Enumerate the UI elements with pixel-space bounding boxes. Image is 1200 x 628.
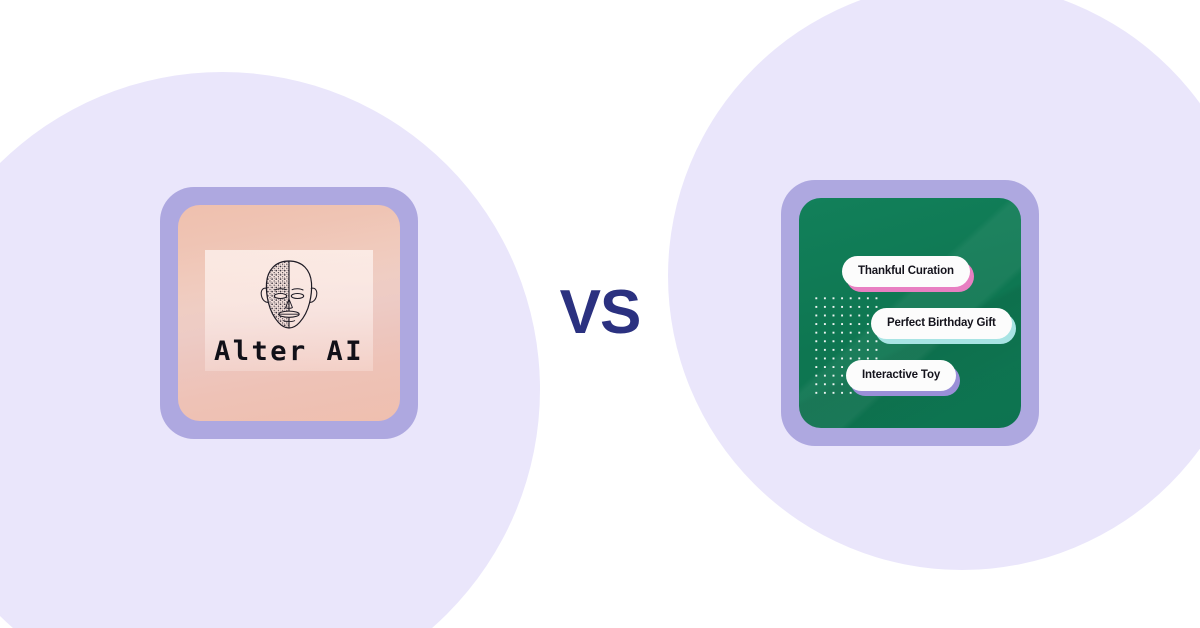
left-app-name: Alter AI bbox=[214, 338, 364, 365]
feature-pill[interactable]: Thankful Curation bbox=[842, 256, 970, 287]
feature-pill[interactable]: Interactive Toy bbox=[846, 360, 956, 391]
versus-banner: Alter AI VS Thankful Curation Perfect Bi… bbox=[0, 0, 1200, 628]
left-app-card-artwork: Alter AI bbox=[178, 205, 400, 421]
right-app-card-artwork: Thankful Curation Perfect Birthday Gift … bbox=[799, 198, 1021, 428]
right-app-card[interactable]: Thankful Curation Perfect Birthday Gift … bbox=[781, 180, 1039, 446]
left-app-card[interactable]: Alter AI bbox=[160, 187, 418, 439]
split-face-icon bbox=[250, 257, 328, 333]
feature-pill[interactable]: Perfect Birthday Gift bbox=[871, 308, 1012, 339]
